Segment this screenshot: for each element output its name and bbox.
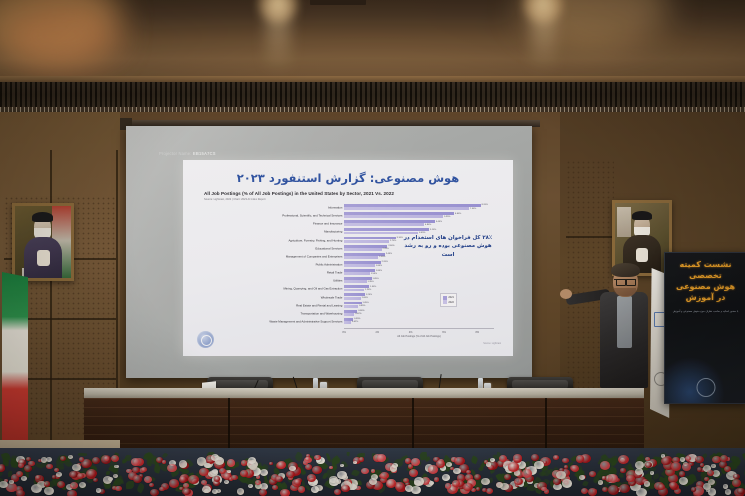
flower-white: [114, 465, 118, 469]
chart-bar-2022: 1.00%: [344, 297, 361, 300]
flower-red: [620, 468, 625, 473]
chart-legend-swatch: [443, 300, 446, 303]
flower-red: [608, 485, 619, 494]
chart-bar-2022: 2.70%: [344, 240, 389, 243]
flower-white: [0, 481, 8, 488]
flower-red: [562, 458, 569, 464]
flower-red: [18, 463, 24, 468]
flower-red: [169, 479, 179, 487]
flower-red: [589, 471, 596, 477]
chart-bar-value: 1.35%: [368, 281, 374, 283]
flower-red: [454, 457, 464, 466]
flower-red: [504, 474, 511, 480]
conference-hall-photo: نشست کمیته تخصصی هوش مصنوعی در آموزش با …: [0, 0, 745, 496]
flower-red: [79, 457, 84, 461]
projector-osd-value: EB15A7CS: [193, 151, 216, 156]
flower-red: [35, 475, 41, 480]
chart-bar-value: 1.05%: [363, 302, 369, 304]
chart-legend-swatch: [443, 296, 446, 299]
flower-white: [215, 457, 224, 464]
chart-category-label: Manufacturing: [324, 231, 342, 234]
flower-red: [386, 479, 396, 487]
chart-x-tick: 8%: [476, 331, 480, 334]
flower-red: [149, 483, 154, 487]
chart-category-label: Educational Services: [315, 247, 342, 250]
chart-category-label: Public Administration: [316, 264, 343, 267]
chart-bar-2022: 0.85%: [344, 305, 358, 308]
chart-bar-value: 1.55%: [371, 273, 377, 275]
flower-white: [212, 469, 218, 474]
flower-red: [0, 465, 5, 472]
chart-category-label: Management of Companies and Enterprises: [286, 255, 343, 258]
chart-legend-label: 2021: [448, 296, 454, 299]
chart-bar-2022: 5.95%: [344, 215, 443, 218]
flower-white: [108, 477, 113, 481]
flower-white: [579, 475, 585, 480]
flower-red: [428, 465, 438, 474]
flower-red: [70, 482, 78, 488]
chart-category-label: Professional, Scientific, and Technical …: [282, 215, 342, 218]
flower-red: [16, 471, 24, 477]
flower-red: [619, 484, 630, 493]
chart-bar-value: 7.50%: [470, 208, 476, 210]
flower-red: [463, 483, 473, 492]
flower-red: [115, 486, 122, 492]
banner-title-line-2: تخصصی: [665, 271, 745, 280]
flower-red: [679, 471, 686, 477]
chart-row: Professional, Scientific, and Technical …: [344, 212, 494, 220]
flower-red: [508, 462, 519, 471]
chart-row: Wholesale Trade1.25%1.00%: [344, 293, 494, 301]
flower-red: [182, 488, 190, 495]
flower-red: [732, 479, 741, 486]
flower-red: [26, 457, 31, 461]
flower-red: [44, 481, 50, 486]
banner-subtitle: با حضور اساتید و صاحب نظران حوزه هوش مصن…: [665, 310, 745, 314]
flower-red: [576, 455, 584, 462]
chart-bar-value: 2.25%: [383, 248, 389, 250]
chart-bar-value: 5.10%: [430, 229, 436, 231]
flower-white: [429, 481, 434, 486]
flower-white: [248, 484, 253, 488]
chart-bar-value: 8.20%: [482, 204, 488, 206]
chart-category-label: Real Estate and Rental and Leasing: [296, 304, 342, 307]
flower-red: [669, 482, 676, 488]
flower-red: [298, 486, 305, 492]
flower-red: [231, 475, 238, 481]
chart-bar-value: 2.20%: [382, 261, 388, 263]
chart-bar-value: 6.60%: [455, 213, 461, 215]
flower-white: [224, 480, 229, 484]
flower-white: [336, 479, 341, 483]
flower-white: [68, 455, 73, 459]
flower-red: [553, 478, 561, 485]
flower-red: [359, 457, 364, 461]
flower-red: [314, 455, 321, 461]
flower-white: [481, 478, 489, 485]
chart-x-tick: 0%: [342, 331, 346, 334]
chart-row: Real Estate and Rental and Leasing1.05%0…: [344, 302, 494, 310]
flower-leaf: [153, 464, 161, 473]
flower-leaf: [351, 469, 360, 477]
flower-white: [247, 460, 258, 469]
flower-leaf: [619, 473, 624, 478]
flower-leaf: [471, 456, 479, 465]
flower-red: [294, 479, 301, 485]
flower-white: [44, 487, 53, 495]
flower-white: [204, 489, 208, 493]
flower-red: [724, 466, 731, 472]
flower-red: [452, 480, 460, 487]
light-beam-1: [266, 2, 290, 72]
flower-leaf: [347, 452, 351, 456]
flower-red: [700, 463, 704, 467]
chart-row: Transportation and Warehousing0.80%0.62%: [344, 310, 494, 318]
flower-leaf: [78, 453, 88, 457]
slide-title-persian: هوش مصنوعی: گزارش استنفورد ۲۰۲۳: [183, 171, 513, 185]
chart-category-label: Utilities: [333, 280, 342, 283]
flower-red: [486, 488, 493, 494]
chart-x-tick: 4%: [409, 331, 413, 334]
flower-red: [411, 458, 420, 466]
flower-red: [405, 458, 411, 463]
chart-legend: 20212022: [440, 293, 457, 307]
flower-red: [691, 487, 697, 492]
flower-red: [704, 477, 709, 481]
speaker-glasses-lens-left: [616, 279, 626, 286]
flower-white: [650, 471, 654, 475]
flower-red: [150, 489, 159, 496]
chart-bar-value: 1.85%: [376, 265, 382, 267]
chart-x-axis-label: All Job Postings (% of All Job Postings): [397, 335, 441, 338]
event-banner: نشست کمیته تخصصی هوش مصنوعی در آموزش با …: [664, 252, 745, 404]
flower-red: [131, 458, 140, 465]
flower-red: [531, 454, 539, 461]
flower-white: [486, 462, 491, 467]
flower-white: [390, 465, 398, 472]
flower-white: [644, 481, 650, 486]
flower-white: [598, 480, 603, 484]
chart-bar-2022: 0.42%: [344, 321, 351, 324]
chart-row: Public Administration2.20%1.85%: [344, 261, 494, 269]
banner-title-line-3: هوش مصنوعی: [665, 282, 745, 291]
chart-plot-area: Information8.20%7.50%Professional, Scien…: [204, 204, 494, 326]
flower-white: [56, 472, 62, 477]
flower-white: [369, 478, 378, 485]
flower-red: [434, 477, 439, 481]
flower-leaf: [689, 479, 694, 484]
chart-bar-2022: 1.55%: [344, 272, 370, 275]
flower-red: [307, 474, 316, 482]
speaker-hair: [611, 263, 640, 277]
chart-legend-item: 2021: [443, 296, 454, 299]
flower-red: [241, 460, 247, 465]
chart-category-label: Finance and Insurance: [313, 223, 342, 226]
chart-row: Waste Management and Administrative Supp…: [344, 318, 494, 326]
chart-bar-value: 2.05%: [379, 256, 385, 258]
flower-white: [337, 471, 347, 479]
chart-category-label: Mining, Quarrying, and Oil and Gas Extra…: [283, 288, 342, 291]
chart-bar-value: 2.70%: [390, 240, 396, 242]
speaker-shirt: [617, 296, 632, 348]
flower-red: [92, 457, 100, 464]
chart-legend-item: 2022: [443, 300, 454, 303]
flower-leaf: [136, 482, 146, 493]
flower-red: [93, 478, 98, 482]
chart-row: Utilities1.65%1.35%: [344, 277, 494, 285]
flower-white: [703, 483, 711, 490]
flower-white: [636, 488, 647, 496]
chart-category-label: Transportation and Warehousing: [301, 312, 343, 315]
chart-row: Information8.20%7.50%: [344, 204, 494, 212]
flower-red: [24, 465, 32, 472]
flower-red: [183, 483, 189, 488]
flower-red: [16, 490, 25, 496]
flower-leaf: [582, 480, 588, 486]
chart-x-axis: All Job Postings (% of All Job Postings)…: [344, 328, 494, 339]
chart-bar-2022: 0.62%: [344, 313, 354, 316]
flower-red: [67, 490, 76, 496]
flower-red: [6, 483, 16, 492]
chart-title: All Job Postings (% of All Job Postings)…: [204, 191, 394, 196]
flower-red: [188, 475, 199, 484]
flower-red: [259, 489, 267, 496]
flower-red: [476, 487, 480, 490]
flower-white: [490, 458, 495, 462]
flower-white: [179, 460, 188, 467]
chart-category-label: Information: [328, 207, 342, 210]
chart-bar-value: 0.62%: [355, 313, 361, 315]
chart-bar-2022: 2.25%: [344, 248, 382, 251]
banner-glow: [664, 357, 725, 404]
flower-white: [725, 489, 732, 495]
flower-white: [79, 482, 86, 488]
flower-white: [237, 488, 245, 494]
flower-red: [707, 470, 714, 476]
chart-bar-value: 1.85%: [376, 270, 382, 272]
flower-white: [21, 476, 27, 481]
flower-white: [723, 484, 729, 489]
flower-red: [111, 455, 119, 462]
flower-red: [341, 485, 350, 493]
chart-category-label: Agriculture, Forestry, Fishing, and Hunt…: [288, 239, 342, 242]
flower-red: [199, 468, 208, 476]
flower-red: [466, 470, 471, 474]
ceiling: [0, 0, 745, 84]
projector-osd-prefix: Projector Name:: [159, 151, 192, 156]
chart-x-tick: 6%: [442, 331, 446, 334]
ceiling-fixture: [310, 0, 366, 5]
flower-white: [414, 477, 424, 486]
flower-white: [711, 464, 715, 468]
slide-annotation-persian: ۲۸٪ کل فراخوان های استخدام در هوش مصنوعی…: [398, 234, 498, 259]
flower-red: [54, 468, 59, 472]
flower-arrangement: [0, 452, 745, 496]
light-beam-2: [531, 2, 555, 72]
flower-red: [179, 476, 187, 483]
chart-row: Mining, Quarrying, and Oil and Gas Extra…: [344, 285, 494, 293]
flower-red: [395, 482, 405, 491]
chart-bar-value: 1.20%: [365, 289, 371, 291]
flower-white: [204, 463, 210, 468]
chart-bar-value: 5.95%: [444, 216, 450, 218]
flower-white: [453, 468, 461, 474]
flower-red: [553, 455, 559, 460]
chart-bar-2022: 1.20%: [344, 289, 364, 292]
flower-red: [132, 467, 140, 474]
chart-bar-value: 1.25%: [366, 294, 372, 296]
flower-red: [645, 457, 650, 461]
chart-legend-label: 2022: [448, 301, 454, 304]
flower-white: [46, 457, 53, 463]
chart-bar-2022: 1.85%: [344, 264, 375, 267]
flower-red: [445, 483, 451, 488]
chart-bar-value: 1.00%: [362, 297, 368, 299]
flower-red: [141, 467, 147, 472]
flower-red: [482, 488, 487, 492]
flower-red: [46, 464, 53, 470]
flower-red: [588, 488, 597, 496]
flower-red: [658, 484, 665, 490]
flower-white: [411, 486, 421, 494]
flower-red: [144, 476, 152, 483]
flower-red: [159, 487, 165, 492]
stanford-hai-logo: [197, 331, 214, 348]
flower-red: [361, 468, 369, 475]
slide-footer-note: Source: Lightcast: [483, 343, 501, 345]
panel-seam-6: [566, 236, 614, 238]
chart-bar-value: 0.55%: [354, 318, 360, 320]
flower-red: [277, 461, 286, 469]
flower-red: [269, 462, 273, 466]
chart-bar-value: 1.65%: [373, 278, 379, 280]
banner-title-line-4: در آموزش: [665, 293, 745, 302]
flower-red: [602, 487, 608, 492]
banner-logo: [696, 378, 715, 397]
speaker-glasses-lens-right: [626, 279, 636, 286]
flower-red: [371, 469, 375, 473]
flower-red: [57, 481, 65, 488]
flower-leaf: [162, 452, 168, 458]
flower-red: [682, 463, 692, 471]
flower-red: [312, 466, 322, 475]
chart-source: Source: Lightcast, 2022 | Chart: 2023 AI…: [204, 198, 266, 201]
flower-white: [562, 479, 572, 488]
flower-red: [334, 489, 341, 495]
chart-category-label: Retail Trade: [327, 272, 343, 275]
chart-bar-value: 1.50%: [370, 286, 376, 288]
flower-red: [608, 474, 618, 483]
flower-white: [9, 480, 13, 484]
chart-row: Finance and Insurance5.45%4.80%: [344, 220, 494, 228]
chart-bar-value: 2.45%: [386, 253, 392, 255]
chart-bar-2022: 7.50%: [344, 207, 469, 210]
chart-row: Retail Trade1.85%1.55%: [344, 269, 494, 277]
flower-white: [442, 474, 450, 480]
speaker-hand: [560, 289, 572, 299]
chart-category-label: Waste Management and Administrative Supp…: [269, 320, 342, 323]
chart-x-tick: 2%: [376, 331, 380, 334]
iran-flag-left: [2, 272, 28, 444]
banner-title-line-1: نشست کمیته: [665, 260, 745, 269]
chart-bar-value: 0.85%: [359, 305, 365, 307]
presentation-slide: هوش مصنوعی: گزارش استنفورد ۲۰۲۳ All Job …: [183, 160, 513, 356]
flower-red: [409, 469, 418, 477]
flower-red: [645, 462, 652, 468]
chart-bar-value: 2.60%: [388, 245, 394, 247]
speaker-beard: [614, 288, 636, 296]
flower-red: [86, 469, 97, 478]
chart-bar-value: 0.42%: [352, 321, 358, 323]
flower-white: [311, 486, 319, 492]
curtain-valance: [0, 82, 745, 110]
flower-red: [275, 476, 283, 483]
flower-red: [600, 461, 610, 470]
panel-seam-1: [50, 150, 52, 450]
flower-red: [720, 455, 728, 462]
chart-bar-value: 5.45%: [436, 221, 442, 223]
flower-red: [626, 475, 634, 482]
flower-red: [618, 455, 629, 464]
chart-category-label: Wholesale Trade: [321, 296, 343, 299]
flower-red: [661, 457, 671, 466]
flower-white: [212, 489, 218, 494]
chart-bar-value: 4.80%: [425, 224, 431, 226]
flower-red: [514, 478, 522, 485]
flower-red: [214, 476, 221, 482]
chart-bar-2022: 2.05%: [344, 256, 378, 259]
flower-white: [679, 477, 689, 485]
chart-bar-2022: 1.35%: [344, 280, 367, 283]
chart-bar-value: 0.80%: [358, 310, 364, 312]
flower-red: [671, 462, 681, 470]
flower-red: [240, 470, 248, 477]
flower-red: [227, 459, 236, 466]
flower-red: [280, 489, 290, 496]
chart-bar-2022: 4.80%: [344, 223, 424, 226]
projector-osd: Projector Name: EB15A7CS: [159, 151, 216, 156]
flower-white: [260, 469, 269, 476]
